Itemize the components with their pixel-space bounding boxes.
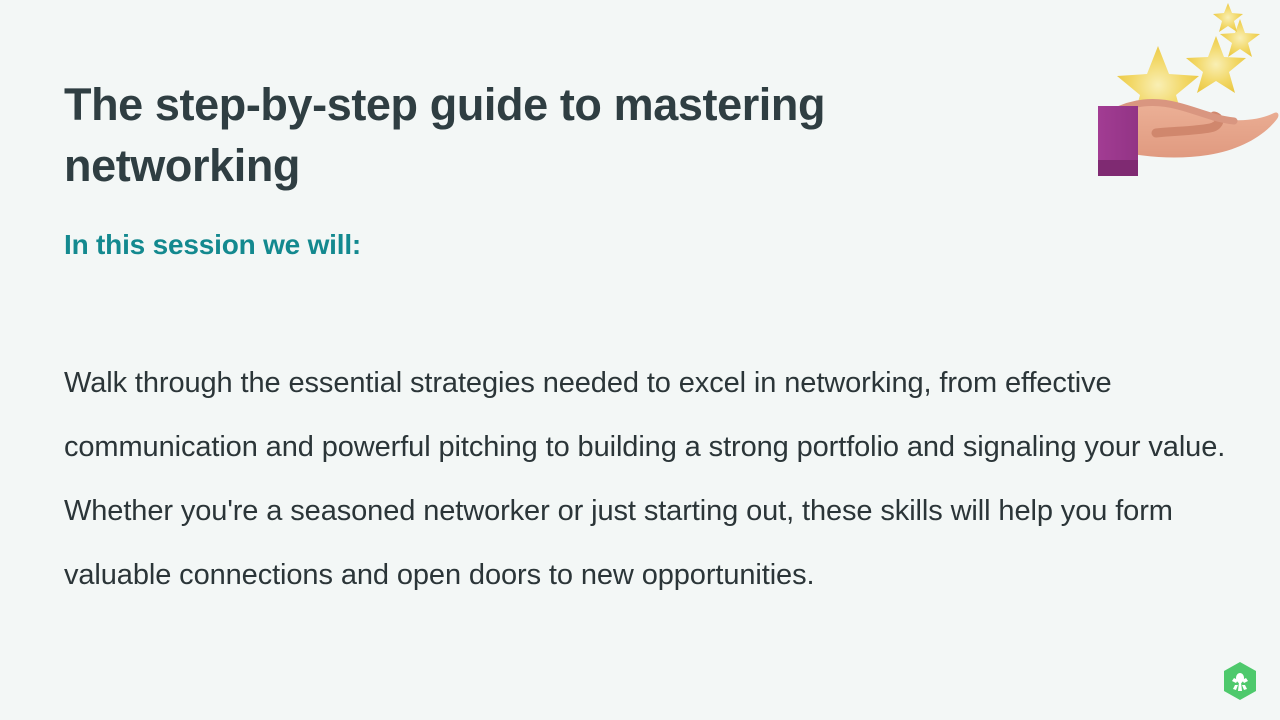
slide-canvas: The step-by-step guide to mastering netw… xyxy=(0,0,1280,720)
green-hexagon-logo xyxy=(1221,661,1259,701)
open-hand-with-stars-illustration xyxy=(1088,0,1280,192)
session-agenda-heading: In this session we will: xyxy=(64,226,361,264)
sleeve-group xyxy=(1098,106,1138,176)
page-title: The step-by-step guide to mastering netw… xyxy=(64,74,964,196)
session-description-text: Walk through the essential strategies ne… xyxy=(64,351,1232,607)
sleeve-cuff xyxy=(1098,160,1138,176)
